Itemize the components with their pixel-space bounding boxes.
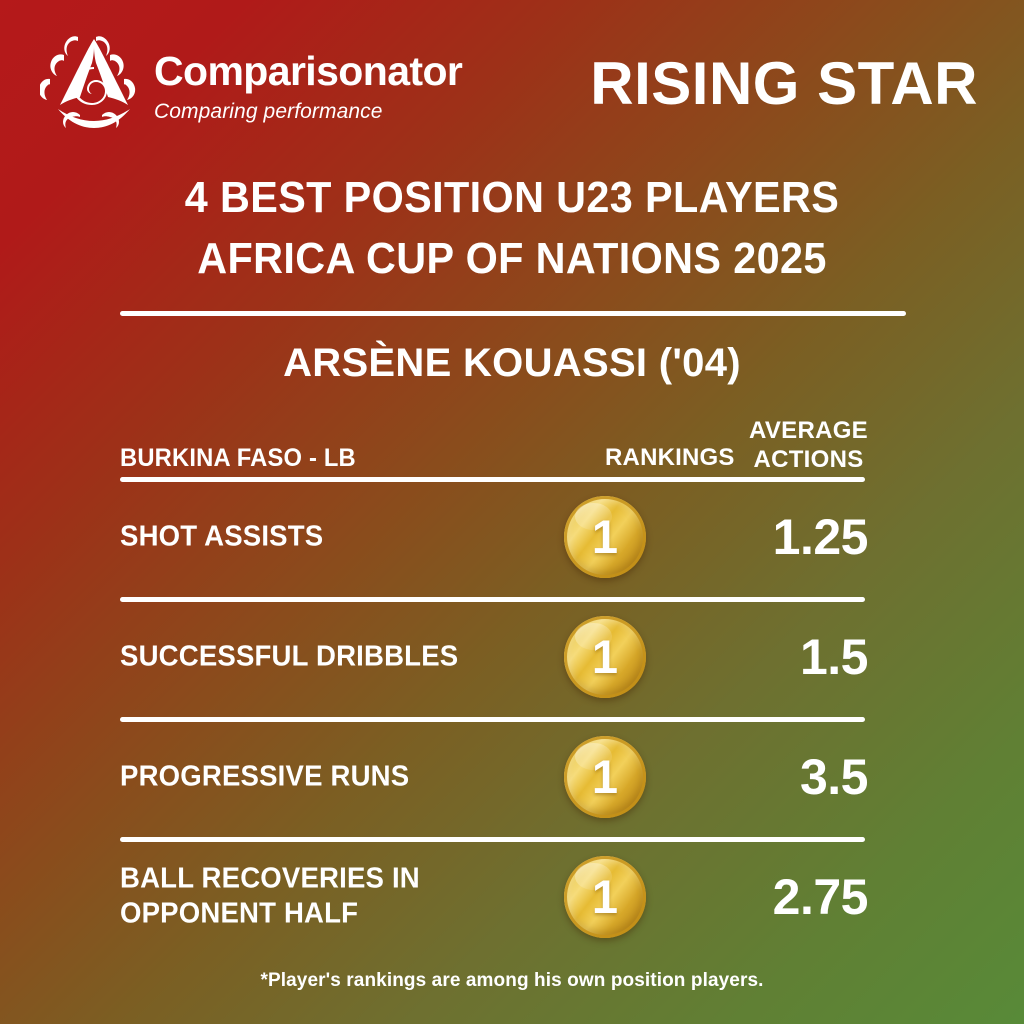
row-divider [120, 477, 865, 482]
stats-table: BURKINA FASO - LB RANKINGS AVERAGE ACTIO… [120, 415, 868, 957]
medal-rank-number: 1 [592, 873, 618, 920]
brand-text: Comparisonator Comparing performance [154, 51, 462, 122]
footnote: *Player's rankings are among his own pos… [0, 970, 1024, 992]
metric-label: PROGRESSIVE RUNS [120, 759, 409, 794]
gold-medal-icon: 1 [564, 616, 646, 698]
poster-header: Comparisonator Comparing performance RIS… [40, 30, 978, 140]
comparisonator-triangle-koru-logo-icon [40, 33, 148, 137]
gold-medal-icon: 1 [564, 856, 646, 938]
metric-value: 1.25 [773, 508, 868, 566]
rising-star-poster: Comparisonator Comparing performance RIS… [0, 0, 1024, 1024]
metric-value: 3.5 [800, 748, 868, 806]
metric-label: SHOT ASSISTS [120, 519, 323, 554]
brand-name: Comparisonator [154, 51, 462, 92]
metric-value: 1.5 [800, 628, 868, 686]
poster-title: 4 BEST POSITION U23 PLAYERS AFRICA CUP O… [0, 168, 1024, 289]
medal-rank-number: 1 [592, 633, 618, 680]
row-divider [120, 597, 865, 602]
metric-label: BALL RECOVERIES IN OPPONENT HALF [120, 862, 567, 933]
row-divider [120, 717, 865, 722]
gold-medal-icon: 1 [564, 496, 646, 578]
title-line-1: 4 BEST POSITION U23 PLAYERS [31, 168, 994, 229]
table-row: SHOT ASSISTS 1 1.25 [120, 477, 868, 597]
player-name: ARSÈNE KOUASSI ('04) [0, 341, 1024, 386]
row-divider [120, 837, 865, 842]
award-label: RISING STAR [590, 49, 978, 118]
column-header-average-actions-line-2: ACTIONS [749, 446, 868, 474]
brand-tagline: Comparing performance [154, 101, 462, 122]
medal-rank-number: 1 [592, 753, 618, 800]
metric-value: 2.75 [773, 868, 868, 926]
metric-label: SUCCESSFUL DRIBBLES [120, 639, 458, 674]
stats-table-header: BURKINA FASO - LB RANKINGS AVERAGE ACTIO… [120, 415, 868, 477]
medal-rank-number: 1 [592, 513, 618, 560]
title-line-2: AFRICA CUP OF NATIONS 2025 [31, 229, 994, 290]
column-header-team-position: BURKINA FASO - LB [120, 444, 356, 473]
gold-medal-icon: 1 [564, 736, 646, 818]
table-row: SUCCESSFUL DRIBBLES 1 1.5 [120, 597, 868, 717]
title-divider [120, 311, 906, 316]
column-header-average-actions: AVERAGE ACTIONS [749, 417, 868, 474]
column-header-average-actions-line-1: AVERAGE [749, 417, 868, 445]
table-row: PROGRESSIVE RUNS 1 3.5 [120, 717, 868, 837]
table-row: BALL RECOVERIES IN OPPONENT HALF 1 2.75 [120, 837, 868, 957]
